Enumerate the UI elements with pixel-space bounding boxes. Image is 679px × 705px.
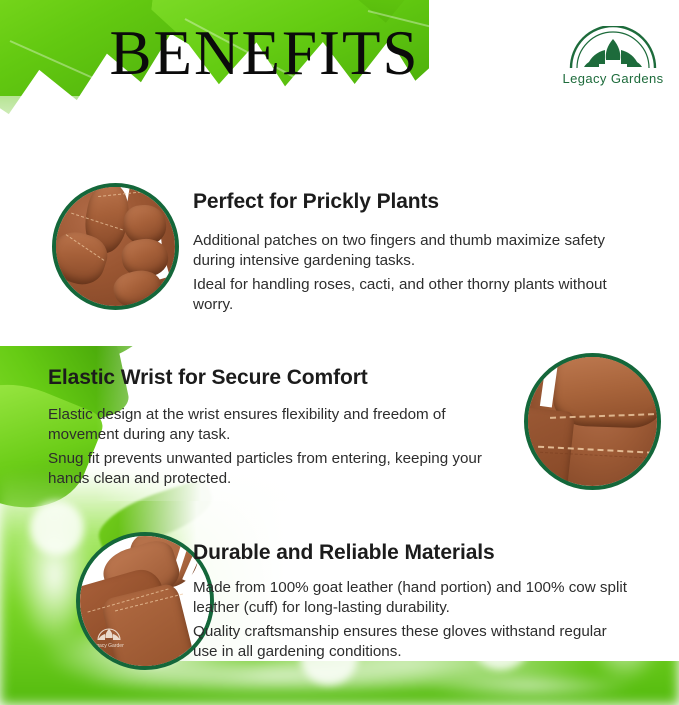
svg-text:Legacy Gardens: Legacy Gardens: [94, 643, 124, 648]
header: BENEFITS Legacy Gardens: [0, 0, 679, 110]
benefit-paragraph-1: Elastic design at the wrist ensures flex…: [48, 405, 508, 444]
bokeh-highlight: [30, 501, 84, 555]
glove-palm-photo: [56, 187, 175, 306]
cuff-logo-badge-icon: Legacy Gardens: [94, 622, 124, 648]
leaf-stem-bottom: [364, 487, 394, 549]
benefits-infographic: BENEFITS Legacy Gardens: [0, 0, 679, 705]
brand-logo: Legacy Gardens: [555, 26, 671, 86]
benefit-paragraph-2: Snug fit prevents unwanted particles fro…: [48, 449, 498, 488]
benefit-heading: Perfect for Prickly Plants: [193, 190, 439, 214]
benefit-heading: Durable and Reliable Materials: [193, 541, 495, 565]
benefit-paragraph-1: Additional patches on two fingers and th…: [193, 231, 633, 270]
benefit-heading: Elastic Wrist for Secure Comfort: [48, 366, 368, 390]
benefit-paragraph-1: Made from 100% goat leather (hand portio…: [193, 578, 638, 617]
benefit-image-glove-palm: [52, 183, 179, 310]
benefit-paragraph-2: Quality craftsmanship ensures these glov…: [193, 622, 623, 661]
elastic-wrist-photo: [528, 357, 657, 486]
brand-name: Legacy Gardens: [555, 71, 671, 86]
glove-pair-photo: Legacy Gardens: [80, 536, 210, 666]
benefit-paragraph-2: Ideal for handling roses, cacti, and oth…: [193, 275, 623, 314]
benefit-image-elastic-wrist: [524, 353, 661, 490]
arch-leaf-emblem-icon: [555, 26, 671, 70]
